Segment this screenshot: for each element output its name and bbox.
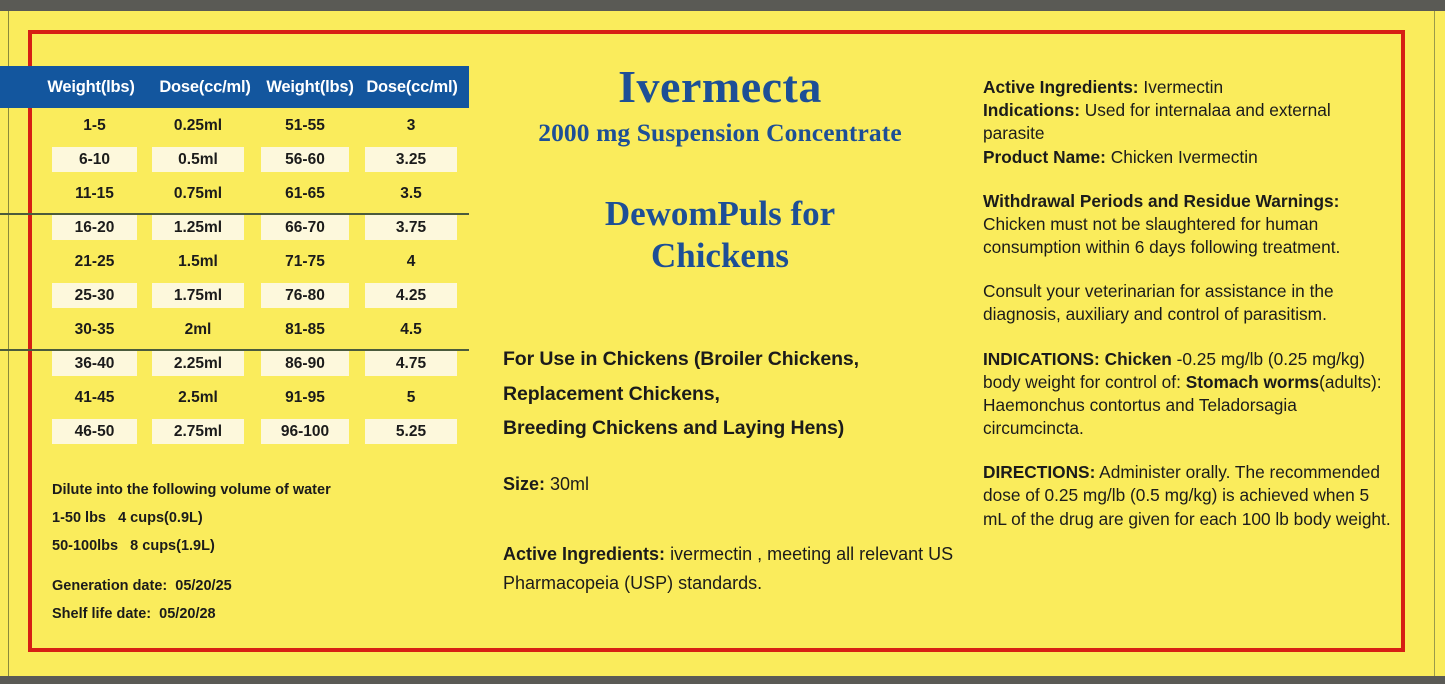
cell-weight-2: 86-90 [261, 351, 349, 376]
table-row: 41-45 2.5ml 91-95 5 [0, 380, 469, 414]
center-body-text: For Use in Chickens (Broiler Chickens, R… [503, 342, 963, 598]
column-header-weight-1: Weight(lbs) [32, 78, 150, 97]
shelf-life-date: Shelf life date: 05/20/28 [52, 606, 452, 622]
bottom-edge-bar [0, 676, 1445, 684]
cell-dose-2: 3 [365, 113, 457, 138]
column-header-weight-2: Weight(lbs) [260, 78, 360, 97]
cell-weight-2: 56-60 [261, 147, 349, 172]
right-indications-label: Indications: [983, 100, 1080, 120]
cell-dose-1: 1.75ml [152, 283, 244, 308]
table-row: 21-25 1.5ml 71-75 4 [0, 244, 469, 278]
stomach-worms-label: Stomach worms [1186, 372, 1319, 392]
cell-weight-1: 21-25 [52, 249, 137, 274]
table-row: 1-5 0.25ml 51-55 3 [0, 108, 469, 142]
cell-dose-2: 4 [365, 249, 457, 274]
table-separator-line [0, 349, 469, 351]
cell-weight-1: 1-5 [52, 113, 137, 138]
cell-dose-2: 5.25 [365, 419, 457, 444]
consult-block: Consult your veterinarian for assistance… [983, 280, 1393, 326]
cell-dose-1: 2.75ml [152, 419, 244, 444]
cell-dose-1: 1.5ml [152, 249, 244, 274]
cell-dose-1: 2.5ml [152, 385, 244, 410]
use-line-3: Breeding Chickens and Laying Hens) [503, 411, 963, 446]
dilution-line-1: 1-50 lbs 4 cups(0.9L) [52, 510, 452, 526]
table-row: 6-10 0.5ml 56-60 3.25 [0, 142, 469, 176]
table-row: 36-40 2.25ml 86-90 4.75 [0, 346, 469, 380]
size-row: Size: 30ml [503, 474, 963, 495]
size-label: Size: [503, 474, 545, 494]
cell-weight-2: 96-100 [261, 419, 349, 444]
cell-dose-2: 3.25 [365, 147, 457, 172]
brand-block: Ivermecta 2000 mg Suspension Concentrate… [480, 62, 960, 278]
center-active-ingredients-row: Active Ingredients: ivermectin , meeting… [503, 540, 963, 598]
cell-dose-2: 3.5 [365, 181, 457, 206]
cell-weight-1: 41-45 [52, 385, 137, 410]
withdrawal-label: Withdrawal Periods and Residue Warnings: [983, 191, 1339, 211]
cell-weight-2: 61-65 [261, 181, 349, 206]
cell-weight-1: 36-40 [52, 351, 137, 376]
brand-subtitle: 2000 mg Suspension Concentrate [480, 118, 960, 148]
dosage-table: Weight(lbs) Dose(cc/ml) Weight(lbs) Dose… [0, 66, 469, 448]
cell-dose-1: 2ml [152, 317, 244, 342]
consult-value: Consult your veterinarian for assistance… [983, 281, 1334, 324]
column-header-dose-2: Dose(cc/ml) [360, 78, 464, 97]
cell-dose-2: 5 [365, 385, 457, 410]
cell-dose-1: 0.25ml [152, 113, 244, 138]
product-title: DewomPuls for Chickens [480, 193, 960, 278]
cell-weight-2: 51-55 [261, 113, 349, 138]
cell-weight-1: 25-30 [52, 283, 137, 308]
cell-weight-2: 91-95 [261, 385, 349, 410]
cell-weight-2: 76-80 [261, 283, 349, 308]
withdrawal-block: Withdrawal Periods and Residue Warnings:… [983, 190, 1393, 260]
dosage-table-header-row: Weight(lbs) Dose(cc/ml) Weight(lbs) Dose… [0, 66, 469, 108]
cell-weight-1: 30-35 [52, 317, 137, 342]
right-identity-block: Active Ingredients: Ivermectin Indicatio… [983, 76, 1393, 169]
table-row: 16-20 1.25ml 66-70 3.75 [0, 210, 469, 244]
product-title-line-2: Chickens [480, 235, 960, 278]
cell-dose-2: 4.75 [365, 351, 457, 376]
product-label: Weight(lbs) Dose(cc/ml) Weight(lbs) Dose… [0, 0, 1445, 684]
cell-dose-1: 1.25ml [152, 215, 244, 240]
center-active-ingredients-label: Active Ingredients: [503, 544, 665, 564]
use-line-1: For Use in Chickens (Broiler Chickens, [503, 342, 963, 377]
right-hairline [1434, 11, 1435, 676]
table-row: 46-50 2.75ml 96-100 5.25 [0, 414, 469, 448]
table-row: 25-30 1.75ml 76-80 4.25 [0, 278, 469, 312]
table-row: 11-15 0.75ml 61-65 3.5 [0, 176, 469, 210]
right-active-ingredients-label: Active Ingredients: [983, 77, 1139, 97]
table-row: 30-35 2ml 81-85 4.5 [0, 312, 469, 346]
dilution-line-2: 50-100lbs 8 cups(1.9L) [52, 538, 452, 554]
column-header-dose-1: Dose(cc/ml) [150, 78, 260, 97]
cell-weight-1: 11-15 [52, 181, 137, 206]
cell-dose-1: 2.25ml [152, 351, 244, 376]
indications-detail-block: INDICATIONS: Chicken -0.25 mg/lb (0.25 m… [983, 348, 1393, 441]
product-title-line-1: DewomPuls for [480, 193, 960, 236]
directions-block: DIRECTIONS: Administer orally. The recom… [983, 461, 1393, 531]
cell-dose-2: 4.5 [365, 317, 457, 342]
right-active-ingredients-row: Active Ingredients: Ivermectin [983, 76, 1393, 99]
right-active-ingredients-value: Ivermectin [1143, 77, 1223, 97]
cell-weight-1: 46-50 [52, 419, 137, 444]
withdrawal-value: Chicken must not be slaughtered for huma… [983, 214, 1340, 257]
right-info-column: Active Ingredients: Ivermectin Indicatio… [983, 76, 1393, 531]
right-product-name-value: Chicken Ivermectin [1111, 147, 1258, 167]
cell-weight-2: 66-70 [261, 215, 349, 240]
cell-dose-2: 3.75 [365, 215, 457, 240]
size-value: 30ml [550, 474, 589, 494]
cell-dose-1: 0.5ml [152, 147, 244, 172]
brand-title: Ivermecta [480, 62, 960, 112]
right-product-name-label: Product Name: [983, 147, 1106, 167]
spacer [52, 566, 452, 578]
cell-weight-2: 81-85 [261, 317, 349, 342]
directions-label: DIRECTIONS: [983, 462, 1095, 482]
top-edge-bar [0, 0, 1445, 11]
cell-dose-2: 4.25 [365, 283, 457, 308]
table-separator-line [0, 213, 469, 215]
dilution-heading: Dilute into the following volume of wate… [52, 482, 452, 498]
dilution-instructions: Dilute into the following volume of wate… [52, 482, 452, 634]
indications-detail-label: INDICATIONS: Chicken [983, 349, 1172, 369]
cell-weight-1: 6-10 [52, 147, 137, 172]
cell-weight-1: 16-20 [52, 215, 137, 240]
cell-dose-1: 0.75ml [152, 181, 244, 206]
right-product-name-row: Product Name: Chicken Ivermectin [983, 146, 1393, 169]
generation-date: Generation date: 05/20/25 [52, 578, 452, 594]
use-line-2: Replacement Chickens, [503, 377, 963, 412]
cell-weight-2: 71-75 [261, 249, 349, 274]
right-indications-row: Indications: Used for internalaa and ext… [983, 99, 1393, 145]
